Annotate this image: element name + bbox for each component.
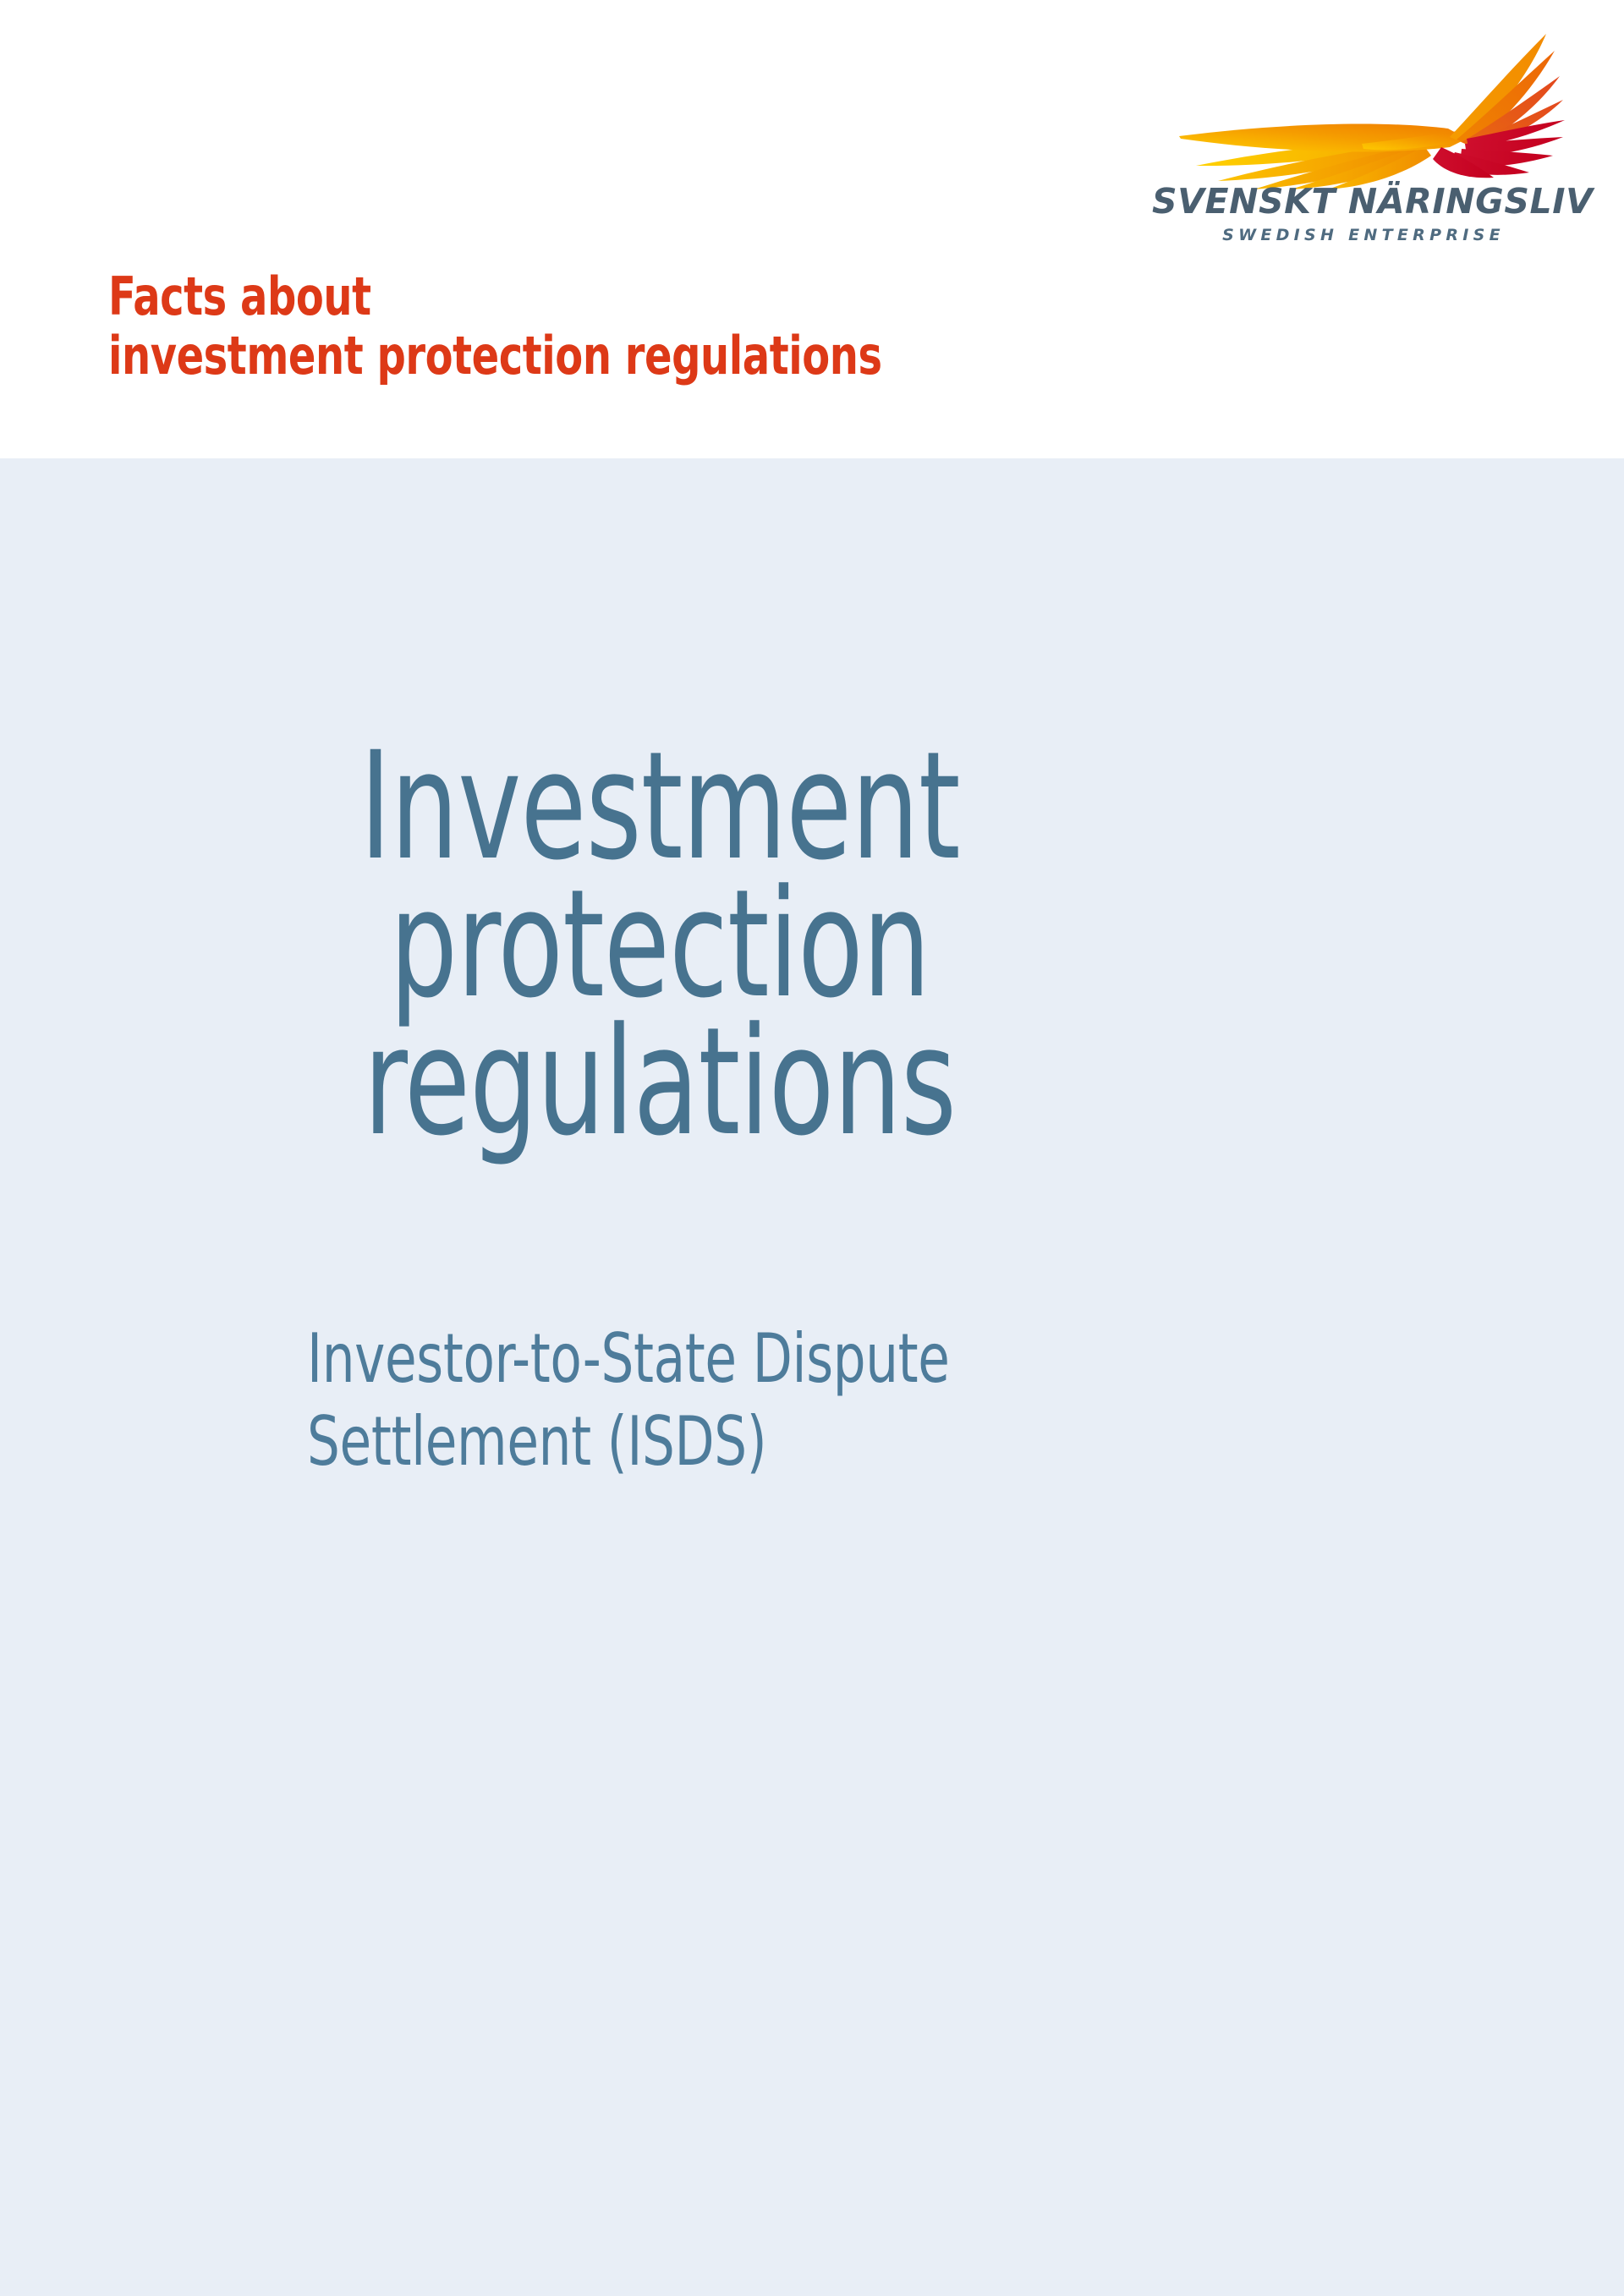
title-line-3: regulations [261, 1013, 1059, 1151]
subtitle-line-1: Investor-to-State Dispute [307, 1318, 1098, 1400]
logo-subwordmark: SWEDISH ENTERPRISE [1152, 227, 1575, 244]
subtitle-line-2: Settlement (ISDS) [307, 1400, 1098, 1483]
title-line-2: protection [261, 875, 1059, 1013]
cover-panel: Investment protection regulations Invest… [0, 458, 1624, 2296]
page-subtitle: Investor-to-State Dispute Settlement (IS… [307, 1318, 1237, 1483]
brand-logo: SVENSKT NÄRINGSLIV SWEDISH ENTERPRISE [1152, 29, 1575, 261]
logo-wordmark: SVENSKT NÄRINGSLIV [1152, 184, 1575, 219]
eyebrow-line-2: investment protection regulations [108, 326, 1127, 386]
eyebrow-heading: Facts about investment protection regula… [108, 267, 1127, 386]
page-title: Investment protection regulations [161, 737, 1159, 1151]
eyebrow-line-1: Facts about [108, 267, 1127, 326]
title-line-1: Investment [261, 737, 1059, 875]
wing-logo-icon [1152, 29, 1575, 189]
cover-page: SVENSKT NÄRINGSLIV SWEDISH ENTERPRISE Fa… [0, 0, 1624, 2296]
